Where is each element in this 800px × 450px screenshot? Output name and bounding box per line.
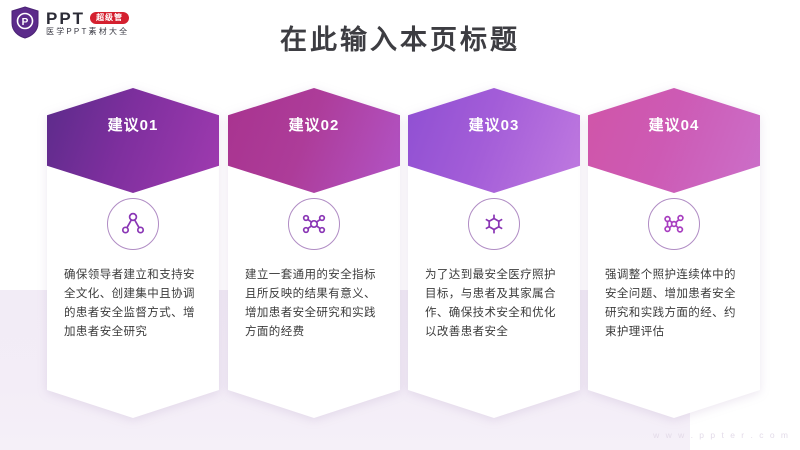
site-watermark: w w w . p p t e r . c o m [653,430,790,440]
card-3-icon-ring [468,198,520,250]
card-2[interactable]: 建议02 建立一套通用的安全指标且所反映的结果有意义、增加患者安全研究和实践方面… [228,88,400,418]
slide-canvas: P PPT 超级管 医学PPT素材大全 在此输入本页标题 建议01 [0,0,800,450]
card-1[interactable]: 建议01 确保领导者建立和支持安全文化、创建集中且协调的患者安全监督方式、增加患… [47,88,219,418]
card-2-label: 建议02 [228,114,400,135]
card-1-label: 建议01 [47,114,219,135]
card-3-text: 为了达到最安全医疗照护目标，与患者及其家属合作、确保技术安全和优化以改善患者安全 [425,266,565,342]
card-4[interactable]: 建议04 强调整个照护连续体中的安全问题、增加患者安全研究和实践方面的经、约束护… [588,88,760,418]
card-4-label: 建议04 [588,114,760,135]
hexagon-molecule-icon [481,211,507,237]
card-2-icon-ring [288,198,340,250]
card-4-icon-ring [648,198,700,250]
page-title: 在此输入本页标题 [0,18,800,57]
molecule-chain-icon [661,211,687,237]
molecule-cross-icon [301,211,327,237]
network-nodes-icon [120,211,146,237]
card-3-label: 建议03 [408,114,580,135]
card-2-text: 建立一套通用的安全指标且所反映的结果有意义、增加患者安全研究和实践方面的经费 [245,266,385,342]
card-1-text: 确保领导者建立和支持安全文化、创建集中且协调的患者安全监督方式、增加患者安全研究 [64,266,204,342]
card-1-icon-ring [107,198,159,250]
cards-container: 建议01 确保领导者建立和支持安全文化、创建集中且协调的患者安全监督方式、增加患… [0,88,800,418]
card-3[interactable]: 建议03 为了达到最安全医疗照护目标，与患者及其家属合作、确保技术安全和优化以改… [408,88,580,418]
card-4-text: 强调整个照护连续体中的安全问题、增加患者安全研究和实践方面的经、约束护理评估 [605,266,745,342]
